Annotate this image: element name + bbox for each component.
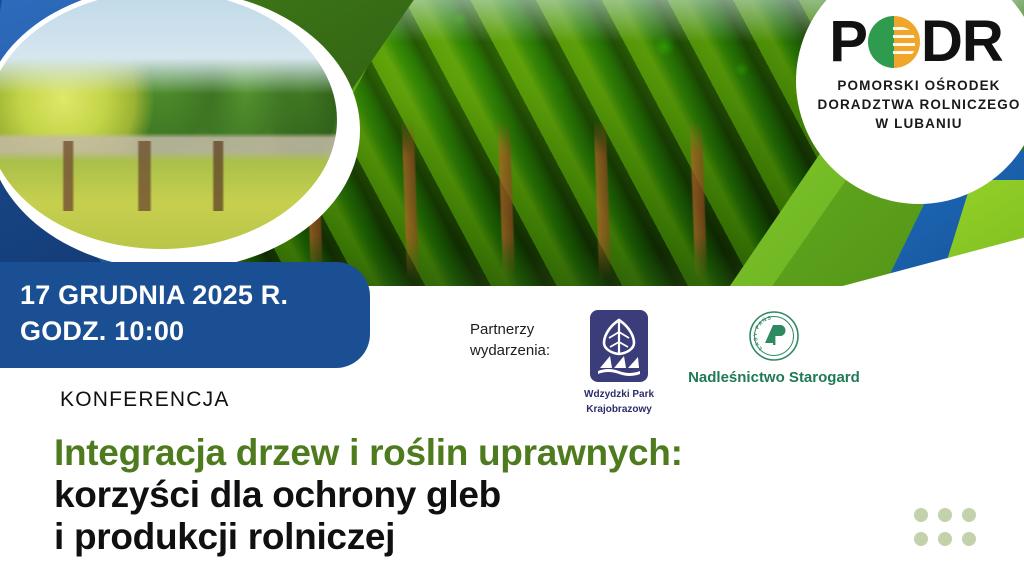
podr-subtitle: POMORSKI OŚRODEK DORADZTWA ROLNICZEGO W …	[818, 76, 1021, 133]
conference-poster: P D R POMORSKI OŚRODEK DORADZTWA ROLNICZ…	[0, 0, 1024, 576]
wdzydzki-park-caption-line-2: Krajobrazowy	[584, 403, 654, 418]
lasy-panstwowe-emblem-icon: LASY PAŃSTWOWE	[748, 310, 800, 362]
wdzydzki-park-logo-icon	[590, 310, 648, 382]
podr-grain-icon	[868, 16, 920, 68]
conference-title: Integracja drzew i roślin uprawnych: kor…	[54, 432, 834, 559]
partner-wdzydzki-park: Wdzydzki Park Krajobrazowy	[584, 310, 654, 417]
event-date-badge: 17 GRUDNIA 2025 R. GODZ. 10:00	[0, 262, 370, 368]
park-trunks-texture	[27, 141, 277, 211]
wdzydzki-park-caption-line-1: Wdzydzki Park	[584, 388, 654, 403]
hero-banner: P D R POMORSKI OŚRODEK DORADZTWA ROLNICZ…	[0, 0, 1024, 300]
partners-label: Partnerzy wydarzenia:	[470, 310, 550, 361]
title-line-3: i produkcji rolniczej	[54, 516, 834, 558]
dot	[914, 532, 928, 546]
dot	[962, 532, 976, 546]
nadlesnictwo-starogard-caption: Nadleśnictwo Starogard	[688, 369, 860, 386]
podr-letter-r: R	[962, 13, 1003, 71]
partners-label-line-2: wydarzenia:	[470, 341, 550, 362]
podr-subtitle-line-2: DORADZTWA ROLNICZEGO	[818, 95, 1021, 114]
decorative-dot-grid	[914, 508, 976, 546]
wdzydzki-park-caption: Wdzydzki Park Krajobrazowy	[584, 388, 654, 417]
dot	[938, 532, 952, 546]
podr-wordmark: P D R	[829, 14, 1002, 70]
title-line-1: Integracja drzew i roślin uprawnych:	[54, 432, 834, 474]
podr-letter-p: P	[829, 13, 867, 71]
partners-label-line-1: Partnerzy	[470, 320, 550, 341]
event-date: 17 GRUDNIA 2025 R.	[20, 278, 350, 314]
podr-subtitle-line-3: W LUBANIU	[818, 114, 1021, 133]
podr-subtitle-line-1: POMORSKI OŚRODEK	[818, 76, 1021, 95]
title-line-2: korzyści dla ochrony gleb	[54, 474, 834, 516]
dot	[938, 508, 952, 522]
lasy-panstwowe-logo-icon: LASY PAŃSTWOWE	[748, 310, 800, 362]
event-time: GODZ. 10:00	[20, 314, 350, 350]
leaf-and-sails-icon	[590, 310, 648, 382]
partners-section: Partnerzy wydarzenia: Wdzy	[470, 310, 990, 417]
partner-nadlesnictwo-starogard: LASY PAŃSTWOWE Nadleśnictwo Starogard	[688, 310, 860, 386]
event-type-label: KONFERENCJA	[60, 388, 230, 412]
dot	[914, 508, 928, 522]
park-trees-photo	[0, 0, 342, 254]
dot	[962, 508, 976, 522]
podr-letter-d: D	[921, 13, 962, 71]
